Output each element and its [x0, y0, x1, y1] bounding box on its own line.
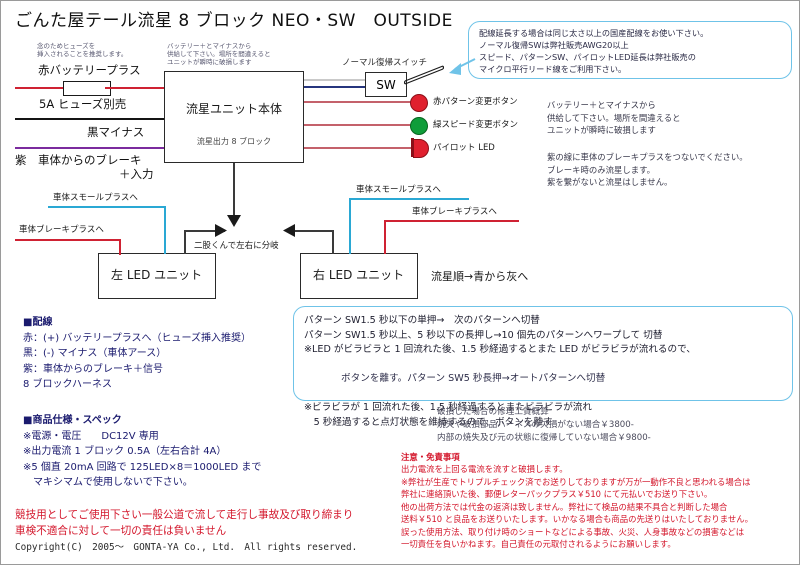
pilot-led-label: パイロット LED: [433, 143, 495, 154]
right-small-wire-v: [349, 198, 351, 254]
product-spec-line-2: ※5 個直 20mA 回路で 125LED×8＝1000LED まで: [23, 460, 261, 476]
meteor-unit-box: 流星ユニット本体 流星出力 8 ブロック: [164, 71, 304, 163]
left-small-plus-label: 車体スモールプラスへ: [53, 193, 138, 204]
green-speed-button-label: 緑スピード変更ボタン: [433, 120, 518, 131]
left-small-wire-v: [164, 206, 166, 254]
fuse-label: 5A ヒューズ別売: [39, 97, 126, 111]
repair-cost-block: 破損した場合の修理工賃概算 焼失や破損部品ハーネスの欠損がない場合￥3800- …: [437, 406, 651, 445]
left-led-unit-label: 左 LED ユニット: [111, 268, 202, 283]
red-wire-right: [105, 87, 165, 89]
sw-text: SW: [376, 78, 395, 92]
extension-wiring-text: 配線延長する場合は同じ太さ以上の国産配線をお使い下さい。 ノーマル復帰SWは弊社…: [469, 22, 791, 76]
repair-line-0: 破損した場合の修理工賃概算: [437, 406, 651, 419]
operation-line-3: ボタンを離す。パターン SW5 秒長押→: [331, 373, 509, 384]
normal-return-switch[interactable]: SW: [365, 72, 407, 97]
repair-line-2: 内部の焼失及び元の状態に復帰していない場合￥9800-: [437, 432, 651, 445]
flow-order-label: 流星順→青から灰へ: [431, 270, 528, 284]
red-battery-plus-label: 赤バッテリープラス: [38, 63, 141, 77]
disclaimer-line-6: 一切責任を負いかねます。自己責任の元取付されるようにお願いします。: [401, 538, 753, 550]
disclaimer-line-1: ※弊社が生産でトリプルチェック済でお送りしておりますが万が一動作不良と思われる場…: [401, 476, 753, 488]
wiring-spec-line-3: 8 ブロックハーネス: [23, 377, 251, 393]
disclaimer-line-3: 他の出荷方法では代金の返済は致しません。弊社にて検品の結果不具合と判断した場合: [401, 501, 753, 513]
right-brake-plus-label: 車体ブレーキプラスへ: [412, 207, 497, 218]
right-small-wire-h: [349, 198, 469, 200]
fuse-recommend-note: 念のためヒューズを 挿入されることを推奨します。: [37, 42, 127, 58]
black-minus-label: 黒マイナス: [87, 125, 144, 139]
disclaimer-line-4: 送料￥510 と良品をお送りいたします。いかなる場合も商品の先送りはいたしており…: [401, 513, 753, 525]
left-led-unit-box: 左 LED ユニット: [98, 253, 216, 299]
wire-speed-button: [304, 124, 413, 126]
right-branch-v: [332, 230, 334, 254]
left-branch-arrow-icon: [215, 224, 229, 237]
left-branch-v: [184, 230, 186, 254]
purple-wire: [15, 147, 165, 149]
fuse-symbol: [63, 81, 111, 96]
product-spec-line-3: マキシマムで使用しないで下さい。: [23, 475, 261, 491]
red-pattern-button-label: 赤パターン変更ボタン: [433, 97, 518, 108]
product-spec-line-0: ※電源・電圧 DC12V 専用: [23, 429, 261, 445]
right-branch-h: [293, 230, 334, 232]
purple-brake-label-2: ＋入力: [119, 167, 154, 181]
wire-pattern-button: [304, 101, 413, 103]
product-spec-block: ■商品仕様・スペック ※電源・電圧 DC12V 専用 ※出力電流 1 ブロック …: [23, 413, 261, 491]
page-title: ごんた屋テール流星 8 ブロック NEO・SW OUTSIDE: [15, 11, 453, 32]
wiring-spec-block: ■配線 赤：(+) バッテリープラスへ（ヒューズ挿入推奨） 黒：(-) マイナス…: [23, 315, 251, 393]
operation-line-2: ※LED がビラビラと 1 回流れた後、1.5 秒経過するとまた LED がビラ…: [304, 343, 792, 358]
unit-title: 流星ユニット本体: [186, 102, 282, 117]
copyright-text: Copyright(C) 2005～ GONTA-YA Co., Ltd. Al…: [15, 542, 357, 554]
product-spec-heading: ■商品仕様・スペック: [23, 413, 261, 429]
unit-subtitle: 流星出力 8 ブロック: [197, 137, 271, 147]
competition-use-warning: 競技用としてご使用下さい一般公道で流して走行し事故及び取り締まり 車検不適合に対…: [15, 508, 353, 540]
disclaimer-block: 注意・免責事項 出力電流を上回る電流を流すと破損します。 ※弊社が生産でトリプル…: [401, 451, 753, 565]
right-brake-wire-v: [384, 220, 386, 254]
red-wire-left: [15, 87, 69, 89]
right-brake-note: 紫の線に車体のブレーキプラスをつないでください。 ブレーキ時のみ流星します。 紫…: [547, 151, 748, 189]
black-wire: [15, 118, 165, 120]
right-branch-arrow-icon: [281, 224, 295, 237]
grey-wire-sw: [304, 79, 365, 81]
extension-wiring-callout: 配線延長する場合は同じ太さ以上の国産配線をお使い下さい。 ノーマル復帰SWは弊社…: [468, 21, 792, 79]
branch-label: 二股くんで左右に分岐: [194, 241, 279, 252]
operation-line-1: パターン SW1.5 秒以上、5 秒以下の長押し→10 個先のパターンへワープし…: [304, 329, 792, 344]
pilot-led-icon: [413, 139, 429, 158]
right-brake-wire-h: [384, 220, 519, 222]
right-led-unit-box: 右 LED ユニット: [300, 253, 418, 299]
disclaimer-line-0: 出力電流を上回る電流を流すと破損します。: [401, 463, 753, 475]
left-brake-plus-label: 車体ブレーキプラスへ: [19, 225, 104, 236]
wire-pilot-led: [304, 147, 412, 149]
purple-brake-label: 紫 車体からのブレーキ: [15, 153, 142, 167]
green-speed-button-icon[interactable]: [410, 117, 428, 135]
disclaimer-line-2: 弊社に連絡頂いた後、郵便レターパックプラス￥510 にて元払いでお送り下さい。: [401, 488, 753, 500]
operation-line-0: パターン SW1.5 秒以下の単押→ 次のパターンへ切替: [304, 314, 792, 329]
wiring-spec-line-0: 赤：(+) バッテリープラスへ（ヒューズ挿入推奨）: [23, 331, 251, 347]
red-pattern-button-icon[interactable]: [410, 94, 428, 112]
wiring-spec-line-1: 黒：(-) マイナス（車体アース）: [23, 346, 251, 362]
branch-trunk-wire: [233, 163, 235, 220]
disclaimer-heading: 注意・免責事項: [401, 451, 753, 463]
left-brake-wire-h: [15, 239, 121, 241]
right-supply-note: バッテリー＋とマイナスから 供給して下さい。場所を間違えると ユニットが瞬時に破…: [547, 99, 681, 137]
diagram-page: ごんた屋テール流星 8 ブロック NEO・SW OUTSIDE 念のためヒューズ…: [0, 0, 800, 565]
left-brake-wire-v: [119, 239, 121, 255]
navy-wire-sw: [304, 86, 365, 88]
product-spec-line-1: ※出力電流 1 ブロック 0.5A（左右合計 4A）: [23, 444, 261, 460]
operation-highlight: オートパターンへ切替: [510, 373, 605, 384]
disclaimer-line-5: 誤った使用方法、取り付け時のショートなどによる事故、火災、人身事故などの損害など…: [401, 526, 753, 538]
unit-supply-note: バッテリー＋とマイナスから 供給して下さい。場所を間違えると ユニットが瞬時に破…: [167, 42, 271, 66]
wiring-spec-line-2: 紫：車体からのブレーキ＋信号: [23, 362, 251, 378]
right-small-plus-label: 車体スモールプラスへ: [356, 185, 441, 196]
callout-arrow-icon: [441, 53, 477, 79]
wiring-spec-heading: ■配線: [23, 315, 251, 331]
left-small-wire-h: [48, 206, 166, 208]
right-led-unit-label: 右 LED ユニット: [313, 268, 404, 283]
operation-instructions-box: パターン SW1.5 秒以下の単押→ 次のパターンへ切替 パターン SW1.5 …: [293, 306, 793, 401]
repair-line-1: 焼失や破損部品ハーネスの欠損がない場合￥3800-: [437, 419, 651, 432]
